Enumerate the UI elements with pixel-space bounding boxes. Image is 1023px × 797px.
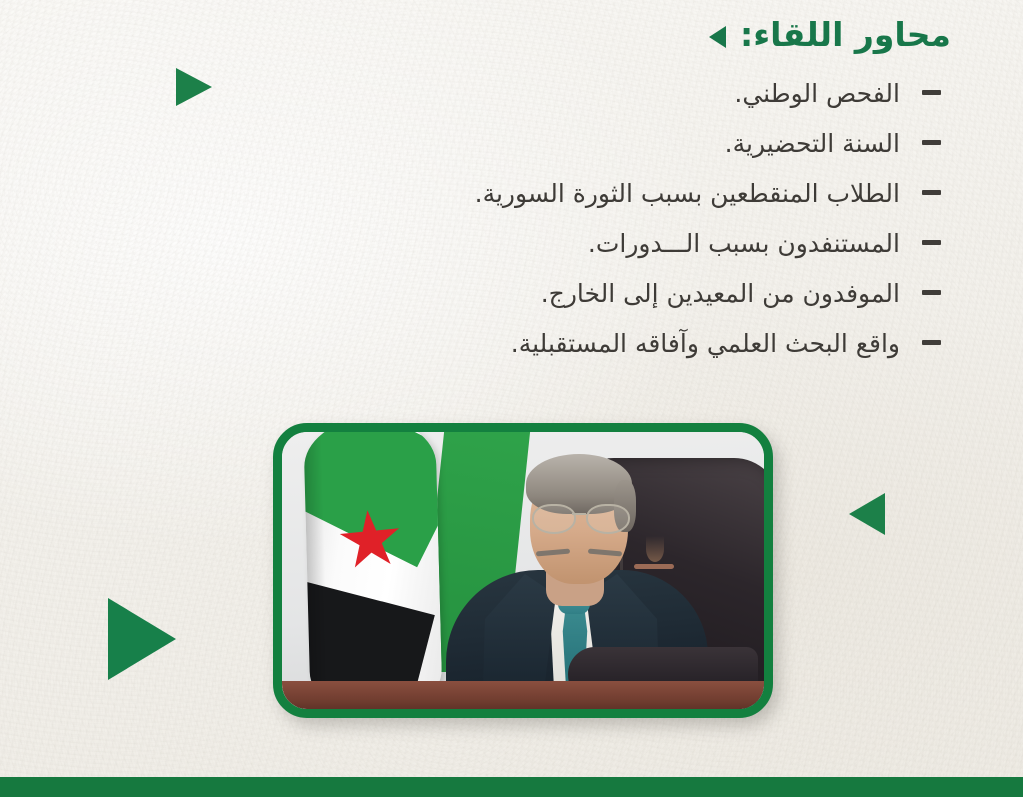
list-item: واقع البحث العلمي وآفاقه المستقبلية. [301, 328, 941, 378]
list-item-label: الفحص الوطني. [734, 78, 900, 109]
triangle-decoration-top-left-icon [176, 68, 212, 106]
list-item-label: واقع البحث العلمي وآفاقه المستقبلية. [511, 328, 900, 359]
bottom-accent-bar [0, 777, 1023, 797]
triangle-decoration-right-icon [849, 493, 885, 535]
page-title: محاور اللقاء: [740, 16, 951, 54]
eyeglass-bridge [572, 513, 586, 515]
dash-bullet-icon [922, 190, 941, 195]
triangle-decoration-bottom-left-icon [108, 598, 176, 680]
list-item-label: المستنفدون بسبب الـــدورات. [588, 228, 900, 259]
syrian-independence-flag-icon [303, 432, 443, 709]
poster-canvas: محاور اللقاء: الفحص الوطني. السنة التحضي… [0, 0, 1023, 797]
list-item-label: السنة التحضيرية. [725, 128, 900, 159]
dash-bullet-icon [922, 90, 941, 95]
list-item-label: الموفدون من المعيدين إلى الخارج. [541, 278, 900, 309]
mouth [634, 564, 674, 569]
list-item: الموفدون من المعيدين إلى الخارج. [301, 278, 941, 328]
desk-surface [282, 681, 764, 709]
dash-bullet-icon [922, 290, 941, 295]
photo-frame [273, 423, 773, 718]
speaker-photo [282, 432, 764, 709]
dash-bullet-icon [922, 140, 941, 145]
list-item: الطلاب المنقطعين بسبب الثورة السورية. [301, 178, 941, 228]
dash-bullet-icon [922, 340, 941, 345]
heading-row: محاور اللقاء: [709, 16, 951, 54]
list-item: السنة التحضيرية. [301, 128, 941, 178]
list-item-label: الطلاب المنقطعين بسبب الثورة السورية. [475, 178, 900, 209]
list-item: الفحص الوطني. [301, 78, 941, 128]
list-item: المستنفدون بسبب الـــدورات. [301, 228, 941, 278]
dash-bullet-icon [922, 240, 941, 245]
nose [646, 536, 664, 562]
topics-list: الفحص الوطني. السنة التحضيرية. الطلاب ال… [301, 78, 941, 378]
eyeglass-lens-right [586, 504, 630, 534]
eyeglasses-icon [530, 504, 630, 530]
eyeglass-lens-left [532, 504, 576, 534]
left-triangle-icon [709, 26, 726, 48]
